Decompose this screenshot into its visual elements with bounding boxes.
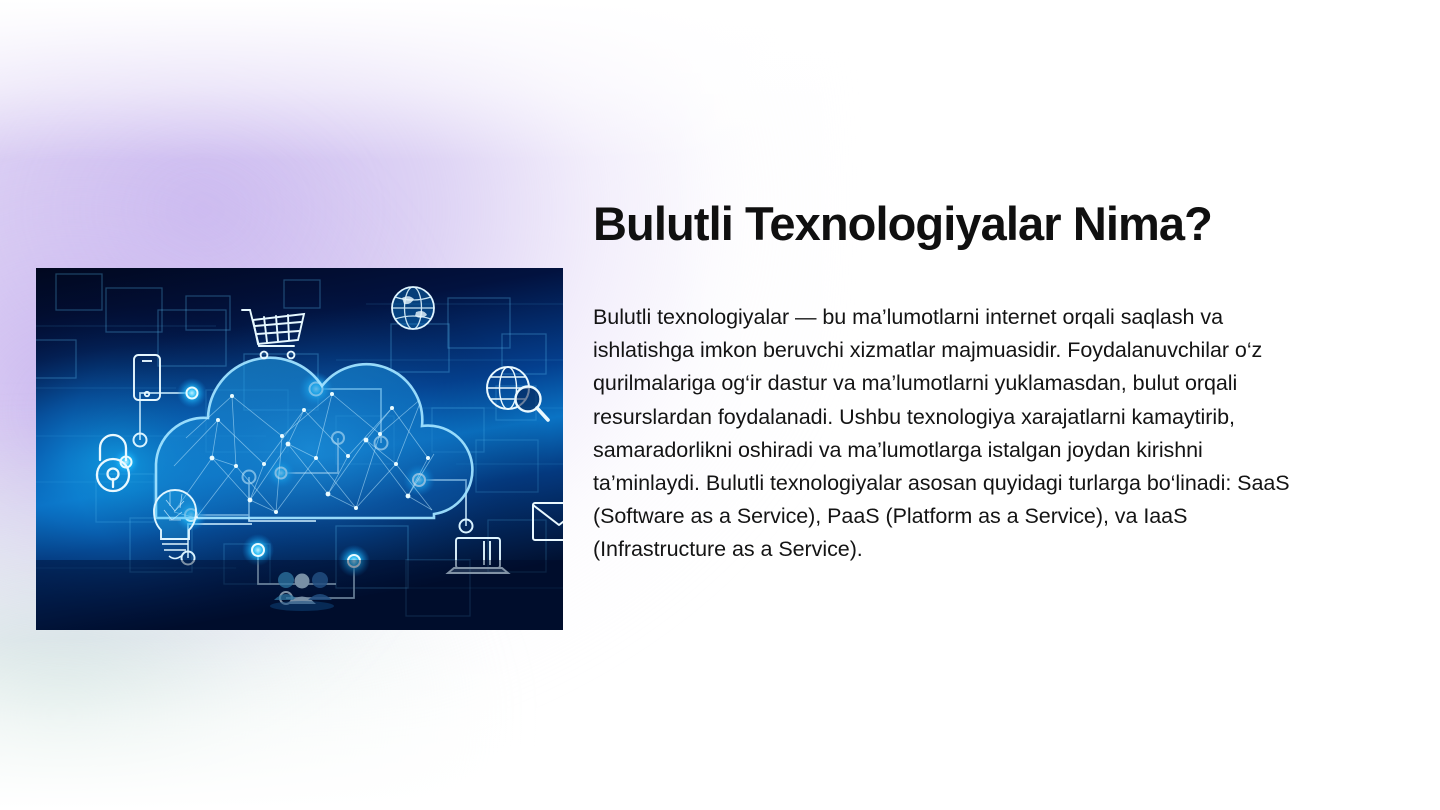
background-fade-bottom	[0, 640, 1440, 810]
page-title: Bulutli Texnologiyalar Nima?	[593, 196, 1305, 251]
background-fade-top	[0, 0, 1440, 160]
slide-canvas: Bulutli Texnologiyalar Nima? Bulutli tex…	[0, 0, 1440, 810]
content-column: Bulutli Texnologiyalar Nima? Bulutli tex…	[593, 196, 1305, 567]
cloud-technology-illustration	[36, 268, 563, 630]
globe-icon	[392, 287, 434, 329]
figure-vignette	[36, 560, 563, 630]
cloud-technology-image	[36, 268, 563, 630]
body-paragraph: Bulutli texnologiyalar — bu ma’lumotlarn…	[593, 251, 1299, 567]
